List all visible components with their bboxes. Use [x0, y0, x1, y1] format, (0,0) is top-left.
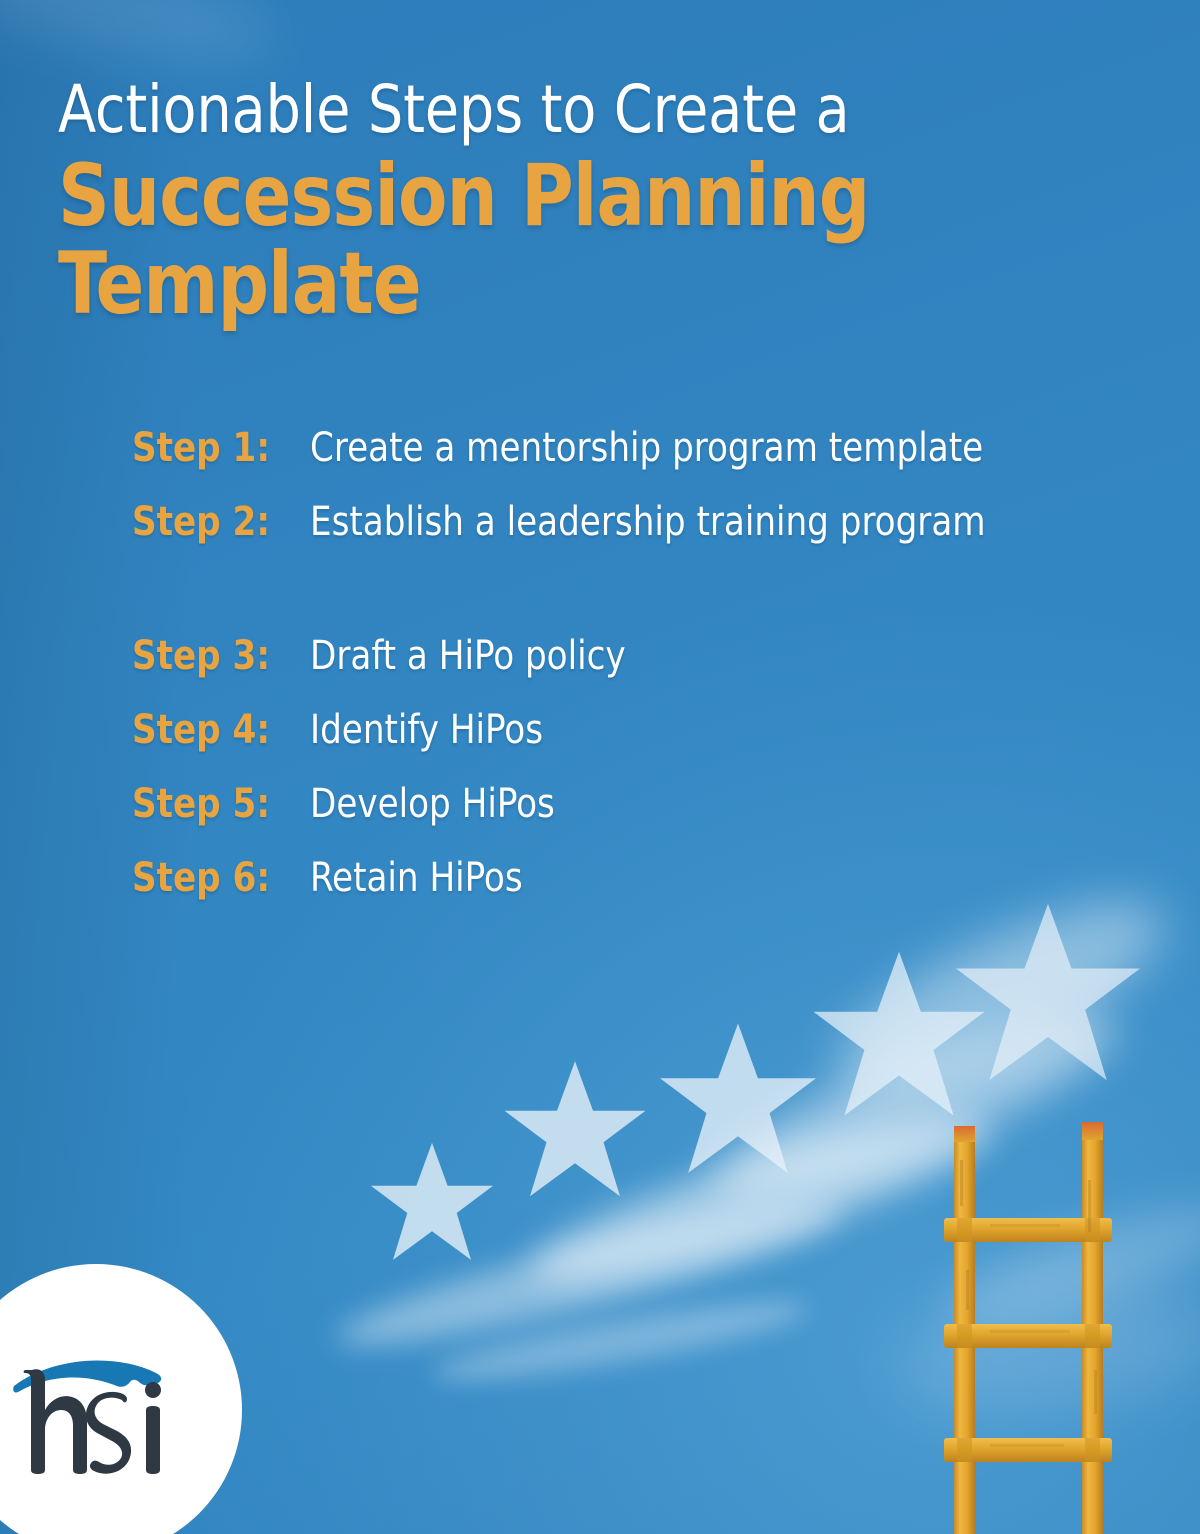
step-label: Step 5: [132, 776, 301, 832]
list-item: Step 1: Create a mentorship program temp… [132, 420, 1092, 476]
title-line-one: Actionable Steps to Create a [58, 72, 1083, 148]
step-label: Step 3: [132, 628, 301, 684]
poster: Actionable Steps to Create a Succession … [0, 0, 1200, 1534]
steps-list: Step 1: Create a mentorship program temp… [132, 420, 1092, 924]
step-label: Step 1: [132, 420, 301, 476]
list-item: Step 5: Develop HiPos [132, 776, 1092, 832]
step-text: Create a mentorship program template [310, 420, 1053, 476]
step-text: Develop HiPos [310, 776, 1053, 832]
step-text: Retain HiPos [310, 850, 1053, 906]
list-item: Step 3: Draft a HiPo policy [132, 628, 1092, 684]
step-text: Identify HiPos [310, 702, 1053, 758]
step-text: Establish a leadership training program [310, 494, 1053, 550]
step-label: Step 6: [132, 850, 301, 906]
step-label: Step 4: [132, 702, 301, 758]
page-title: Actionable Steps to Create a Succession … [58, 72, 1148, 328]
step-text: Draft a HiPo policy [310, 628, 1053, 684]
list-item: Step 4: Identify HiPos [132, 702, 1092, 758]
title-line-two: Succession Planning Template [58, 152, 1072, 328]
list-item: Step 6: Retain HiPos [132, 850, 1092, 906]
hsi-logo-icon [10, 1342, 192, 1482]
step-label: Step 2: [132, 494, 301, 550]
list-item: Step 2: Establish a leadership training … [132, 494, 1092, 550]
